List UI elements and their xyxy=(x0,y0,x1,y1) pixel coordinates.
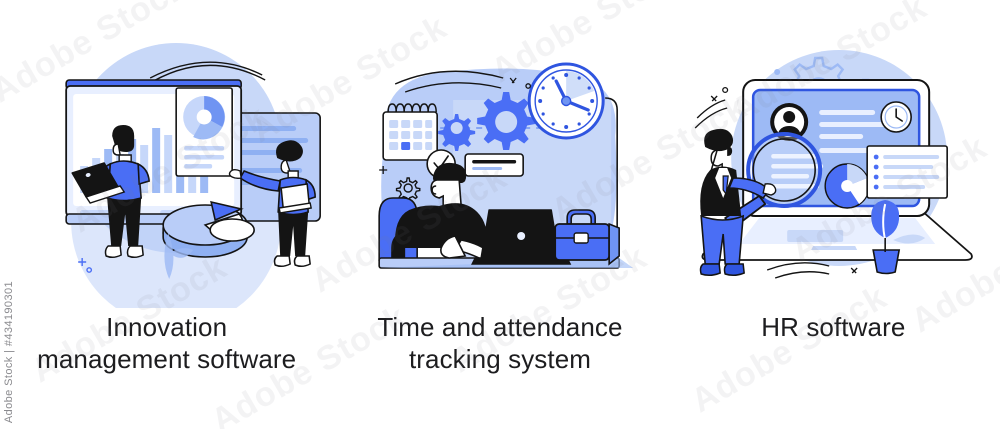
gear-icon-small xyxy=(438,114,475,151)
caption-hr-software: HR software xyxy=(667,312,1000,344)
illustration-time-attendance xyxy=(333,18,666,308)
caption-line-2: management software xyxy=(0,344,333,376)
caption-line-1: HR software xyxy=(667,312,1000,344)
caption-line-1: Time and attendance xyxy=(333,312,666,344)
panel-time-and-attendance-tracking-system[interactable]: Time and attendance tracking system xyxy=(333,0,666,429)
clock-icon xyxy=(881,102,911,132)
caption-line-1: Innovation xyxy=(0,312,333,344)
wall-clock xyxy=(529,64,603,138)
checklist-card xyxy=(867,146,947,198)
illustration-innovation xyxy=(0,18,333,308)
watermark-sidebar: Adobe Stock | #434190301 xyxy=(3,281,15,423)
panel-hr-software[interactable]: HR software xyxy=(667,0,1000,429)
illustration-hr-software xyxy=(667,18,1000,308)
pie-chart xyxy=(825,164,869,208)
donut-chart-card xyxy=(176,88,232,176)
panel-row: Innovation management software xyxy=(0,0,1000,429)
illustration-sheet: Innovation management software xyxy=(0,0,1000,429)
laptop-trackpad xyxy=(787,230,843,242)
calendar-icon xyxy=(383,104,437,160)
caption-line-2: tracking system xyxy=(333,344,666,376)
caption-time-attendance: Time and attendance tracking system xyxy=(333,312,666,376)
dot-decor xyxy=(774,69,780,75)
caption-innovation: Innovation management software xyxy=(0,312,333,376)
note-card xyxy=(465,154,523,176)
calendar-highlight-cell xyxy=(401,142,410,150)
panel-innovation-management-software[interactable]: Innovation management software xyxy=(0,0,333,429)
laptop-notch xyxy=(811,246,857,250)
